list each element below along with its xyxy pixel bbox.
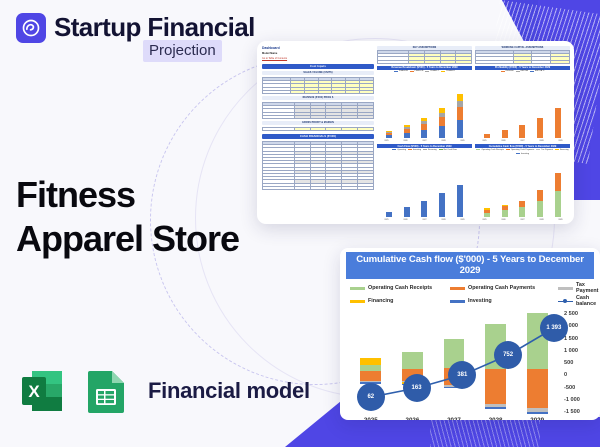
- bar: [457, 185, 463, 217]
- panel-legend: Operating Cash Receipts Operating Cash P…: [475, 148, 570, 155]
- legend-item-operating-cash-payments: Operating Cash Payments: [450, 282, 554, 294]
- bar: [386, 131, 392, 138]
- google-sheets-icon: [84, 365, 130, 417]
- panel-x-labels: 2025 2026 2027 2028 2029: [475, 140, 570, 142]
- x-axis-labels: 2025 2026 2027 2028 2029: [350, 417, 558, 420]
- bar: [555, 173, 561, 217]
- bar: [484, 134, 490, 138]
- dashboard-preview-card[interactable]: Dashboard Model Name Go to Table of Cont…: [257, 41, 574, 224]
- panel-plot: 2025 2026 2027 2028 2029: [475, 155, 570, 221]
- section-bar-sales-volume: SALES VOLUME (UNITS): [262, 71, 374, 75]
- bar: [439, 108, 445, 138]
- page-title-line1: Fitness: [16, 173, 239, 217]
- bar: [502, 130, 508, 138]
- section-bar-revenue: REVENUE ($'000) PRICE $: [262, 96, 374, 100]
- bar: [404, 207, 410, 217]
- bar: [439, 193, 445, 217]
- y-tick: 2 000: [564, 323, 594, 329]
- key-financials-table: [262, 141, 374, 190]
- legend-swatch: [450, 287, 465, 290]
- swirl-e-logo-icon: [16, 13, 46, 43]
- bar: [502, 205, 508, 217]
- bar: [404, 125, 410, 138]
- legend-swatch: [350, 300, 365, 303]
- legend-label: Financing: [368, 298, 393, 304]
- brand-subtitle-badge: Projection: [143, 40, 222, 62]
- cumulative-cash-flow-card[interactable]: Cumulative Cash flow ($'000) - 5 Years t…: [340, 248, 600, 420]
- x-tick: 2025: [352, 417, 389, 420]
- legend-label: Operating Cash Receipts: [368, 285, 432, 291]
- legend-item-cash-balance: Cash balance: [558, 295, 598, 307]
- data-label-2025: 62: [358, 384, 384, 410]
- dashboard-left-column: Dashboard Model Name Go to Table of Cont…: [262, 46, 374, 221]
- data-label-2028: 752: [495, 342, 521, 368]
- brand-header: Startup Financial: [16, 12, 255, 43]
- svg-text:X: X: [28, 382, 40, 401]
- data-label-2026: 163: [404, 375, 430, 401]
- panel-x-labels: 2025 2026 2027 2028 2029: [377, 219, 472, 221]
- y-tick: -1 000: [564, 397, 594, 403]
- x-tick: 2026: [394, 417, 431, 420]
- legend-item-tax-payment: Tax Payment: [558, 282, 598, 294]
- legend-swatch: [350, 287, 365, 290]
- bar: [537, 190, 543, 217]
- gross-profit-table: [262, 127, 374, 131]
- section-bar-gross-profit: GROSS PROFIT & MARGIN: [262, 121, 374, 125]
- legend-label: Operating Cash Payments: [468, 285, 535, 291]
- section-bar-key-financials: CASH FINANCIALS ($'000): [262, 134, 374, 139]
- panel-cash-flow[interactable]: Cash Flow ($'000) - 5 Years to December …: [377, 144, 472, 221]
- page-title-line2: Apparel Store: [16, 217, 239, 261]
- sales-volume-table: [262, 77, 374, 94]
- chart-bars-and-line: 62 163 381 752 1 393: [350, 311, 558, 415]
- key-assumptions-table: [377, 50, 472, 64]
- decor-line-pattern-bottom: [430, 417, 540, 447]
- panel-x-labels: 2025 2026 2027 2028 2029: [475, 219, 570, 221]
- legend-swatch: [558, 287, 573, 290]
- panel-profitability[interactable]: Profitability ($'000) - 5 Years to Decem…: [475, 66, 570, 143]
- bar: [457, 94, 463, 138]
- bar: [421, 118, 427, 138]
- legend-label: Investing: [468, 298, 492, 304]
- promo-slide: Startup Financial Projection Fitness App…: [0, 0, 600, 447]
- section-bar-cost-inputs: Cost Inputs: [262, 64, 374, 69]
- bar: [537, 118, 543, 138]
- bar: [519, 125, 525, 138]
- legend-swatch: [450, 300, 465, 303]
- y-tick: 2 500: [564, 311, 594, 317]
- dashboard-toc-link[interactable]: Go to Table of Contents: [262, 57, 374, 60]
- panel-revenue-breakdown[interactable]: Revenue Breakdown ($'000) - 5 Years to D…: [377, 66, 472, 143]
- bar: [555, 108, 561, 138]
- y-tick: 1 000: [564, 348, 594, 354]
- chart-title: Cumulative Cash flow ($'000) - 5 Years t…: [346, 252, 594, 279]
- panel-x-labels: 2025 2026 2027 2028 2029: [377, 140, 472, 142]
- chart-plot-area: 2 500 2 000 1 500 1 000 500 0 -500 -1 00…: [346, 311, 594, 420]
- panel-plot: 2025 2026 2027 2028 2029: [377, 73, 472, 143]
- dashboard-title: Dashboard: [262, 46, 374, 50]
- y-tick: 500: [564, 360, 594, 366]
- legend-item-investing: Investing: [450, 295, 554, 307]
- brand-name: Startup Financial: [54, 12, 255, 43]
- x-tick: 2028: [477, 417, 514, 420]
- bar: [519, 201, 525, 217]
- bar: [484, 208, 490, 217]
- legend-item-operating-cash-receipts: Operating Cash Receipts: [350, 282, 446, 294]
- y-tick: -1 500: [564, 409, 594, 415]
- panel-plot: 2025 2026 2027 2028 2029: [377, 151, 472, 221]
- x-tick: 2029: [518, 417, 555, 420]
- data-label-2029: 1 393: [541, 315, 567, 341]
- bar: [421, 201, 427, 217]
- y-tick: 0: [564, 372, 594, 378]
- revenue-table: [262, 102, 374, 119]
- legend-label: Cash balance: [576, 295, 598, 307]
- legend-item-financing: Financing: [350, 295, 446, 307]
- legend-swatch-line: [558, 300, 573, 303]
- format-label: Financial model: [148, 378, 310, 404]
- panel-plot: 2025 2026 2027 2028 2029: [475, 73, 570, 143]
- panel-cumulative-cash-flow[interactable]: Cumulative Cash flow ($'000) - 5 Years t…: [475, 144, 570, 221]
- legend-label: Tax Payment: [576, 282, 598, 294]
- format-badges: X Financial model: [18, 365, 310, 417]
- dashboard-model-name: Model Name: [262, 52, 374, 55]
- dashboard-right-column: KEY ASSUMPTIONS WORKING CAPITAL ASSUMPTI…: [377, 46, 570, 221]
- x-tick: 2027: [435, 417, 472, 420]
- page-title: Fitness Apparel Store: [16, 173, 239, 261]
- y-tick: 1 500: [564, 336, 594, 342]
- microsoft-excel-icon: X: [18, 365, 70, 417]
- data-label-2027: 381: [449, 362, 475, 388]
- bar: [386, 212, 392, 217]
- working-capital-table: [475, 50, 570, 64]
- y-tick: -500: [564, 385, 594, 391]
- chart-legend: Operating Cash Receipts Operating Cash P…: [346, 279, 594, 309]
